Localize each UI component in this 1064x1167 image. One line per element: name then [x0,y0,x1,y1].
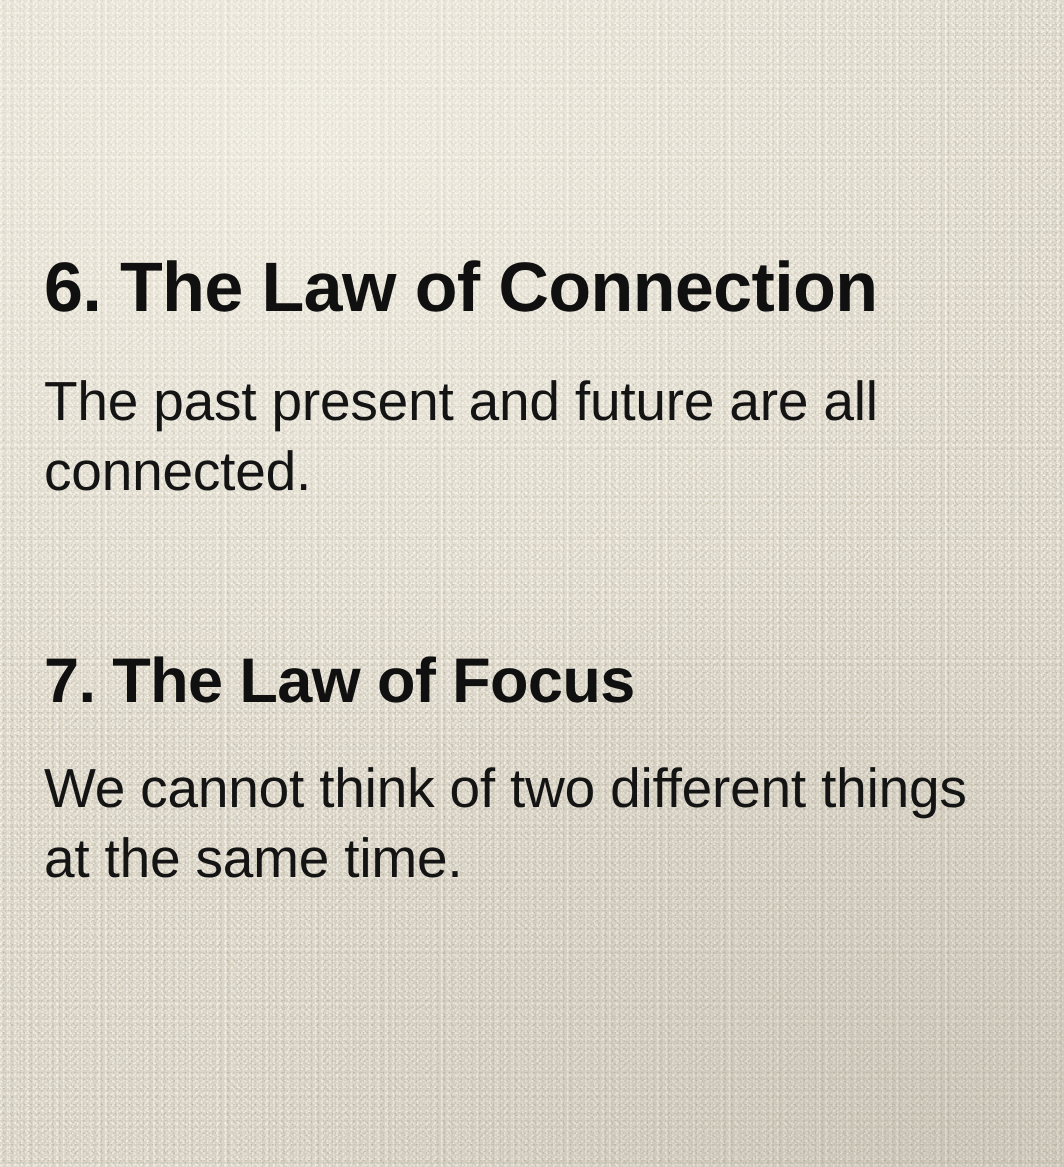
law-6-body: The past present and future are all conn… [44,366,944,506]
law-entry-6: 6. The Law of Connection The past presen… [44,252,944,506]
law-7-body-line-2: at the same time. [44,823,1029,893]
law-6-body-line-2: connected. [44,436,944,506]
poster-page: 6. The Law of Connection The past presen… [0,0,1064,1167]
law-7-body-line-1: We cannot think of two different things [44,753,1029,823]
law-6-heading: 6. The Law of Connection [44,252,944,322]
law-6-body-line-1: The past present and future are all [44,366,944,436]
law-7-heading: 7. The Law of Focus [44,650,1029,713]
paper-shading-layer [0,0,1064,1167]
law-entry-7: 7. The Law of Focus We cannot think of t… [44,650,1029,893]
paper-fiber-layer [0,0,1064,1167]
law-7-body: We cannot think of two different things … [44,753,1029,893]
paper-texture-layer [0,0,1064,1167]
